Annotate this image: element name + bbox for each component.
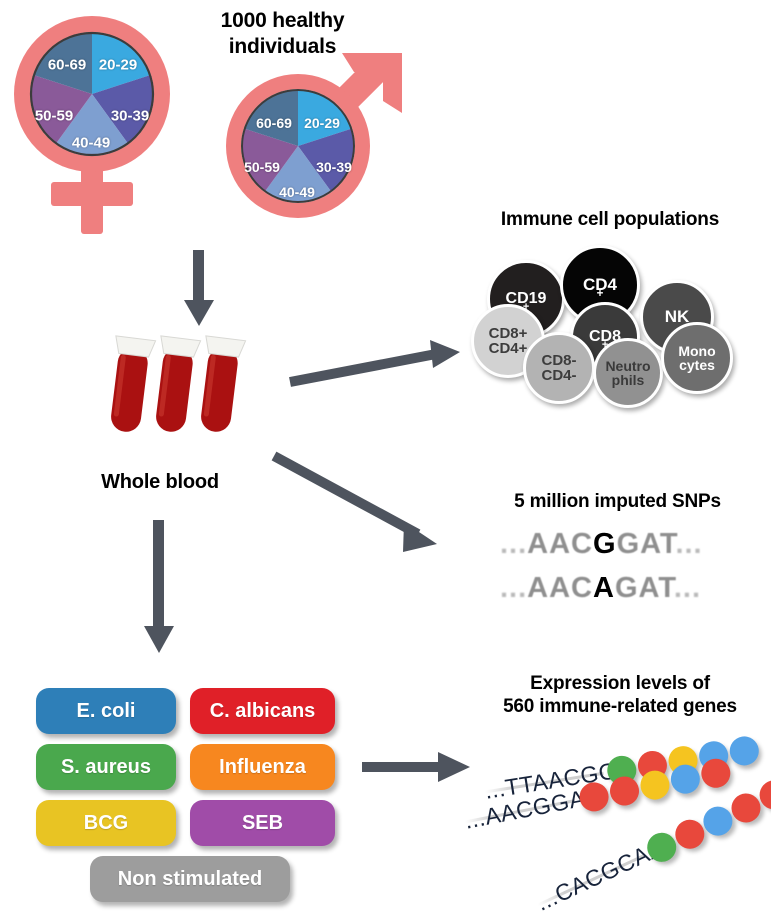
snp-row2-pre: AAC xyxy=(527,572,593,604)
snp-row1-post: GAT xyxy=(617,528,676,560)
female-pie-label-40-49: 40-49 xyxy=(72,135,110,152)
male-gender-symbol xyxy=(205,45,420,240)
snp-row2-lead: ... xyxy=(500,572,527,604)
stimulus-influenza[interactable]: Influenza xyxy=(190,744,335,790)
immune-cells-title: Immune cell populations xyxy=(455,208,765,231)
stimulus-s-aureus[interactable]: S. aureus xyxy=(36,744,176,790)
female-pie-label-50-59: 50-59 xyxy=(35,108,73,125)
figure-canvas: 1000 healthy individuals 20-29 30-39 40-… xyxy=(0,0,771,922)
male-pie-label-40-49: 40-49 xyxy=(279,184,315,200)
stimulus-non-stimulated[interactable]: Non stimulated xyxy=(90,856,290,902)
stimulus-e-coli-label: E. coli xyxy=(77,700,136,723)
snp-sequence-row-1: ...AACGGAT... xyxy=(500,528,703,561)
female-gender-symbol xyxy=(5,10,205,245)
female-cohort-symbol: 20-29 30-39 40-49 50-59 60-69 xyxy=(5,10,205,245)
stimulus-influenza-label: Influenza xyxy=(219,756,306,779)
arrow-right-blood-to-immune-cells xyxy=(288,330,463,390)
stimulus-seb[interactable]: SEB xyxy=(190,800,335,846)
stimulus-non-stimulated-label: Non stimulated xyxy=(118,868,262,891)
blood-tube-1 xyxy=(104,336,155,434)
immune-cell-cd8p-cd4p-label: CD8+ CD4+ xyxy=(489,326,528,357)
snp-row1-trail: ... xyxy=(675,528,702,560)
female-pie-label-20-29: 20-29 xyxy=(99,57,137,74)
immune-cell-monocytes: Mono cytes xyxy=(661,322,733,394)
snp-row1-pre: AAC xyxy=(527,528,593,560)
immune-cell-cd8n-cd4n-label: CD8- CD4- xyxy=(541,353,576,384)
stimulus-c-albicans[interactable]: C. albicans xyxy=(190,688,335,734)
blood-tube-2 xyxy=(149,336,200,434)
expression-title-line2: 560 immune-related genes xyxy=(470,695,770,718)
expression-title: Expression levels of 560 immune-related … xyxy=(470,672,770,718)
stimulus-seb-label: SEB xyxy=(242,812,283,835)
female-pie-label-30-39: 30-39 xyxy=(111,108,149,125)
whole-blood-tubes xyxy=(95,330,270,445)
whole-blood-label: Whole blood xyxy=(60,470,260,494)
stimulus-e-coli[interactable]: E. coli xyxy=(36,688,176,734)
snp-row1-lead: ... xyxy=(500,528,527,560)
male-pie-label-20-29: 20-29 xyxy=(304,115,340,131)
strand-2-bead-5 xyxy=(699,756,733,790)
stimulus-bcg[interactable]: BCG xyxy=(36,800,176,846)
arrow-diagonal-blood-to-snps xyxy=(272,448,452,558)
strand-2-bead-4 xyxy=(668,762,702,796)
immune-cells-cluster: CD19+ CD4+ NK CD8+ CD8+ CD4+ CD8- CD4- N… xyxy=(465,240,765,410)
immune-cell-neutrophils-label: Neutro phils xyxy=(605,359,650,388)
arrow-down-cohort-to-blood xyxy=(180,250,218,328)
stimulus-bcg-label: BCG xyxy=(84,812,128,835)
snps-title: 5 million imputed SNPs xyxy=(470,490,765,513)
snp-row1-variant: G xyxy=(593,528,617,560)
female-pie-label-60-69: 60-69 xyxy=(48,57,86,74)
cohort-title-line1: 1000 healthy xyxy=(185,8,380,34)
stimulus-c-albicans-label: C. albicans xyxy=(210,700,316,723)
arrow-down-blood-to-stimuli xyxy=(140,520,178,655)
immune-cell-neutrophils: Neutro phils xyxy=(593,338,663,408)
male-cohort-symbol: 20-29 30-39 40-49 50-59 60-69 xyxy=(205,45,420,240)
snp-row2-variant: A xyxy=(593,572,615,604)
arrow-right-stimuli-to-expression xyxy=(362,748,474,788)
male-pie-label-50-59: 50-59 xyxy=(244,159,280,175)
immune-cell-cd8n-cd4n: CD8- CD4- xyxy=(523,332,595,404)
strand-2-bead-2 xyxy=(608,774,642,808)
male-pie-label-30-39: 30-39 xyxy=(316,159,352,175)
male-pie-label-60-69: 60-69 xyxy=(256,115,292,131)
snp-row2-trail: ... xyxy=(674,572,701,604)
blood-tube-3 xyxy=(194,336,245,434)
expression-title-line1: Expression levels of xyxy=(470,672,770,695)
snp-row2-post: GAT xyxy=(615,572,674,604)
stimulus-s-aureus-label: S. aureus xyxy=(61,756,151,779)
immune-cell-monocytes-label: Mono cytes xyxy=(678,344,715,373)
strand-2-bead-3 xyxy=(638,768,672,802)
snp-sequence-row-2: ...AACAGAT... xyxy=(500,572,701,605)
